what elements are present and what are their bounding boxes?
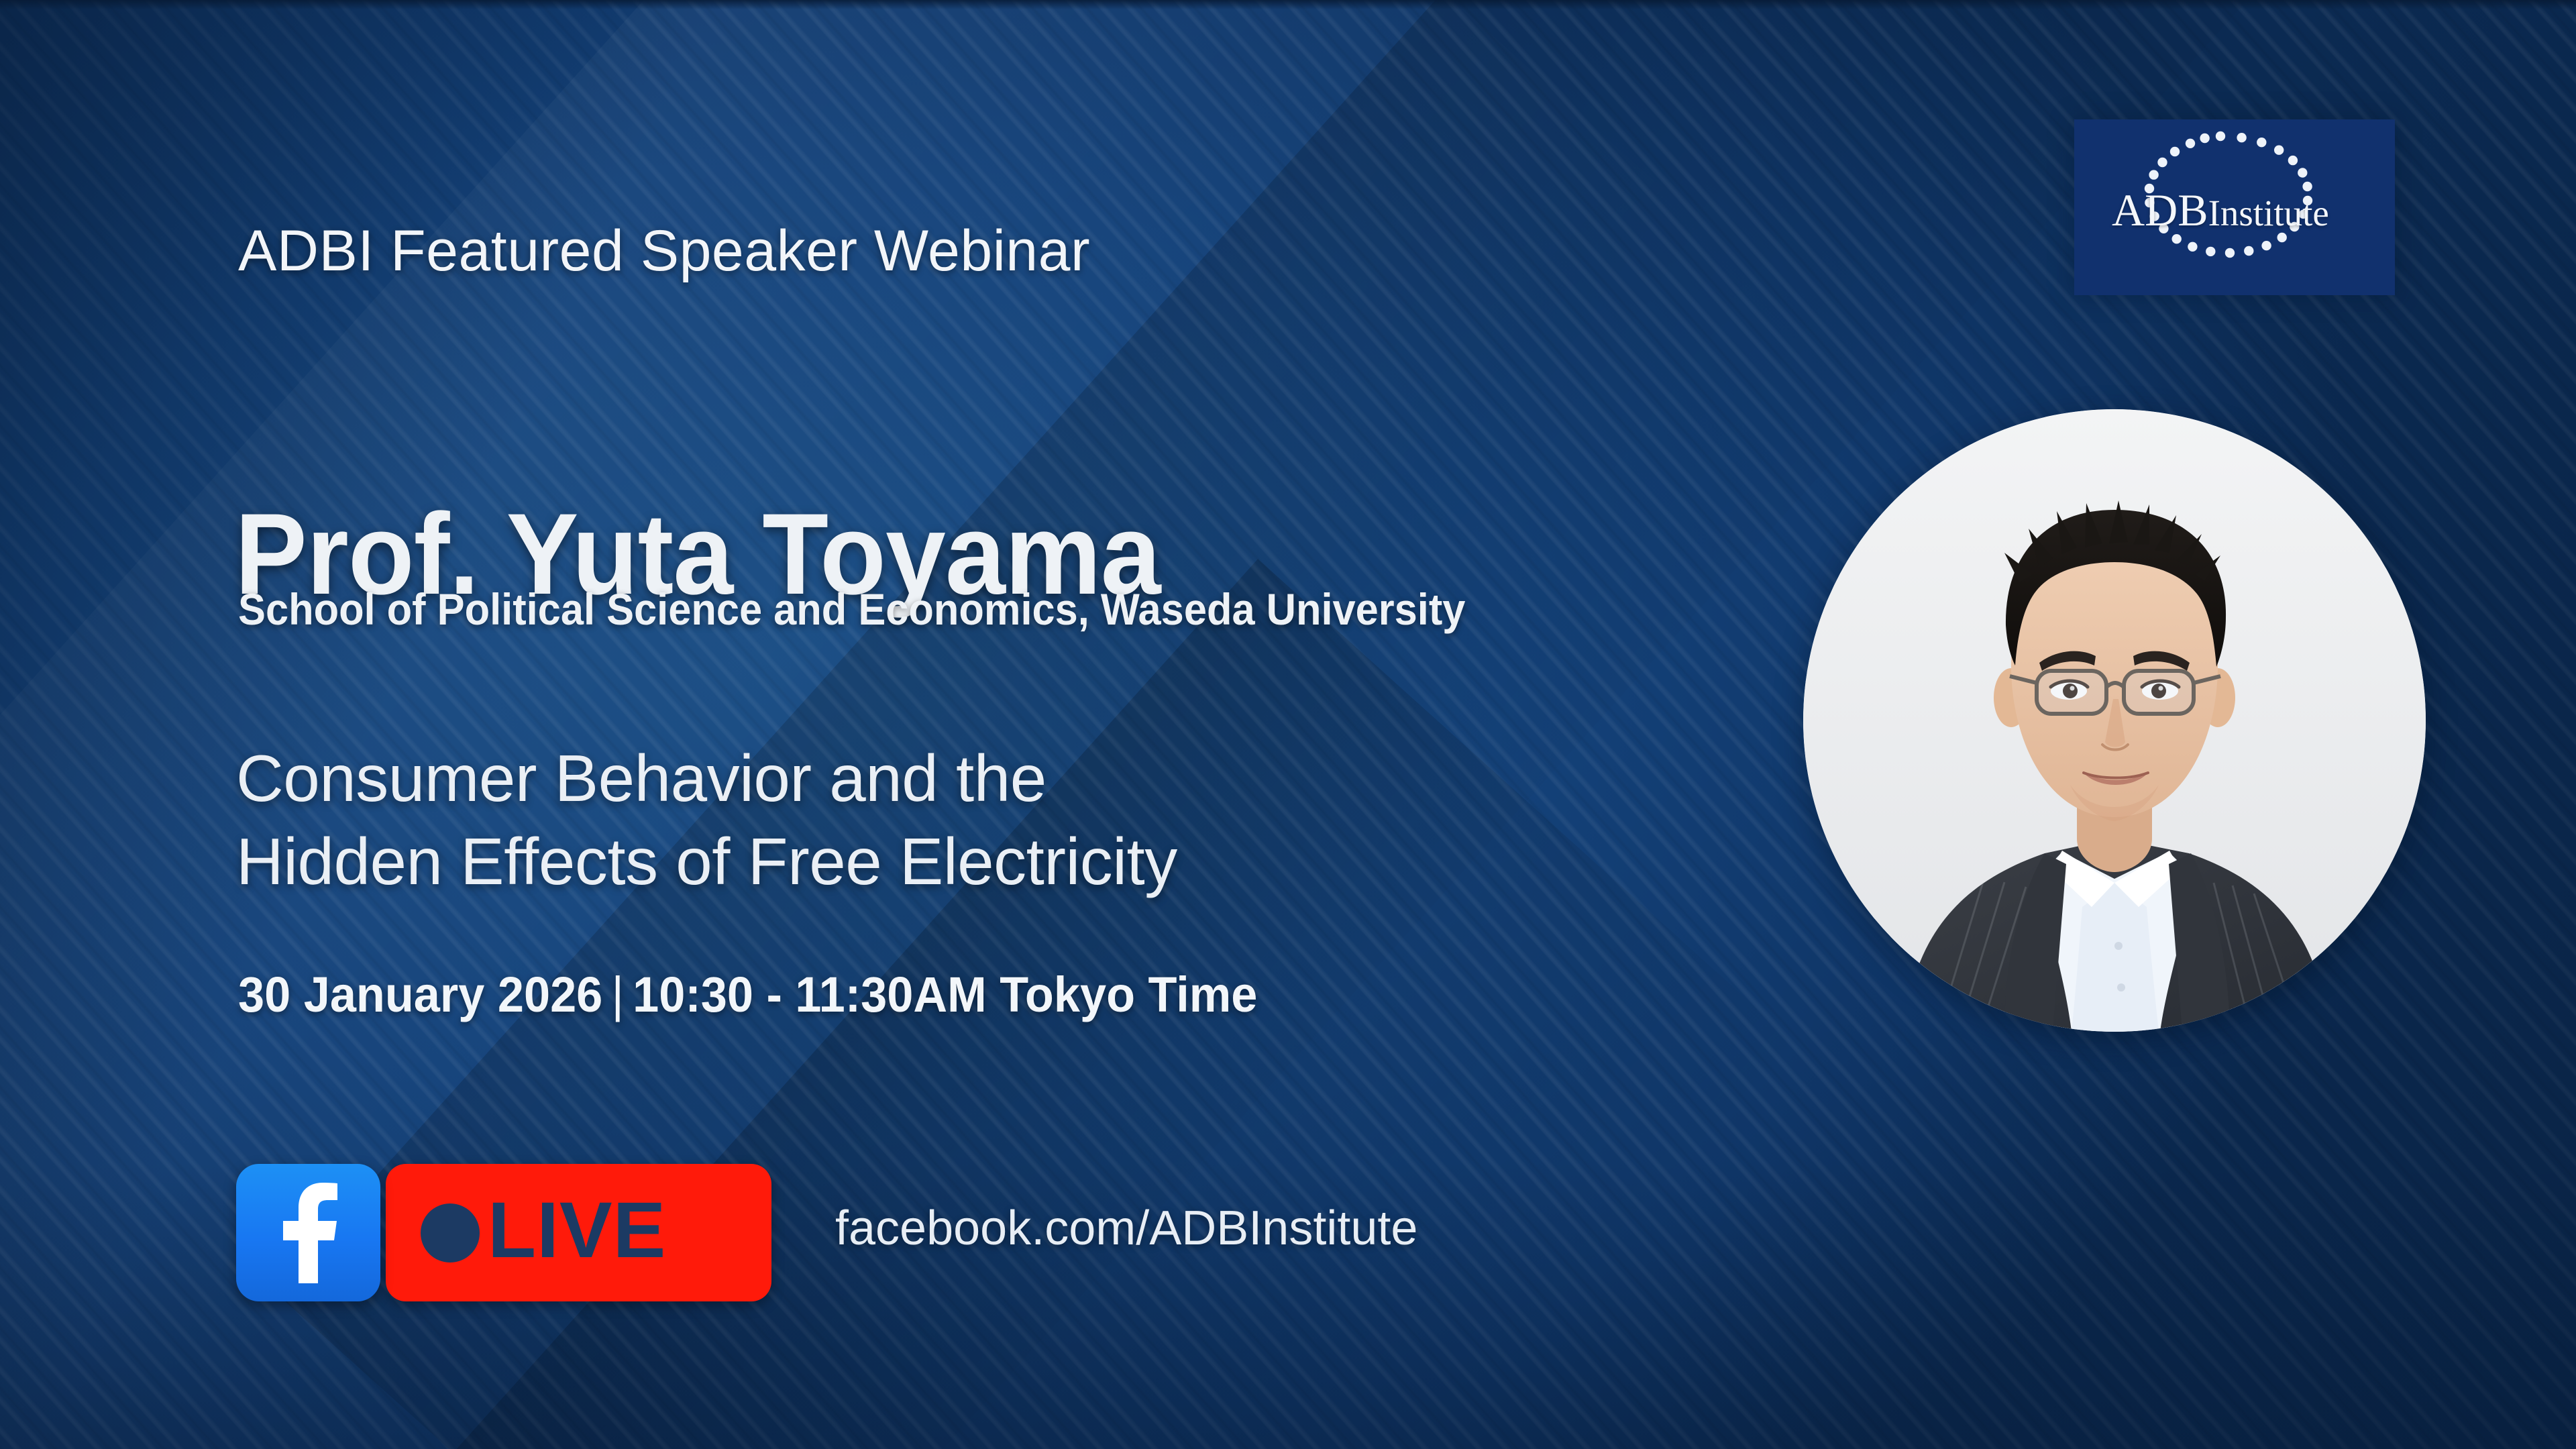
facebook-url[interactable]: facebook.com/ADBInstitute <box>835 1201 1417 1256</box>
datetime-separator: | <box>602 967 633 1022</box>
talk-title-line-1: Consumer Behavior and the <box>236 737 1177 820</box>
poster-content: ADBI Featured Speaker Webinar Prof. Yuta… <box>0 0 2576 1449</box>
speaker-affiliation: School of Political Science and Economic… <box>238 584 1465 635</box>
talk-title: Consumer Behavior and the Hidden Effects… <box>236 737 1177 904</box>
event-datetime: 30 January 2026|10:30 - 11:30AM Tokyo Ti… <box>238 966 1257 1023</box>
record-dot-icon <box>421 1203 480 1263</box>
adbi-logo: ADBInstitute <box>2074 119 2395 295</box>
live-label: LIVE <box>488 1191 666 1270</box>
speaker-portrait <box>1803 409 2426 1032</box>
event-date: 30 January 2026 <box>238 967 602 1022</box>
adbi-wordmark: ADBInstitute <box>2112 184 2380 237</box>
adbi-wordmark-institute: Institute <box>2208 193 2329 233</box>
webinar-series-kicker: ADBI Featured Speaker Webinar <box>238 218 1090 284</box>
facebook-button[interactable] <box>236 1164 380 1301</box>
facebook-live-badge[interactable]: LIVE <box>386 1164 771 1301</box>
adbi-wordmark-adb: ADB <box>2112 184 2208 235</box>
webinar-poster: ADBI Featured Speaker Webinar Prof. Yuta… <box>0 0 2576 1449</box>
talk-title-line-2: Hidden Effects of Free Electricity <box>236 820 1177 903</box>
event-time: 10:30 - 11:30AM Tokyo Time <box>633 967 1257 1022</box>
facebook-icon <box>268 1183 349 1283</box>
facebook-live-row: LIVE <box>236 1164 771 1301</box>
